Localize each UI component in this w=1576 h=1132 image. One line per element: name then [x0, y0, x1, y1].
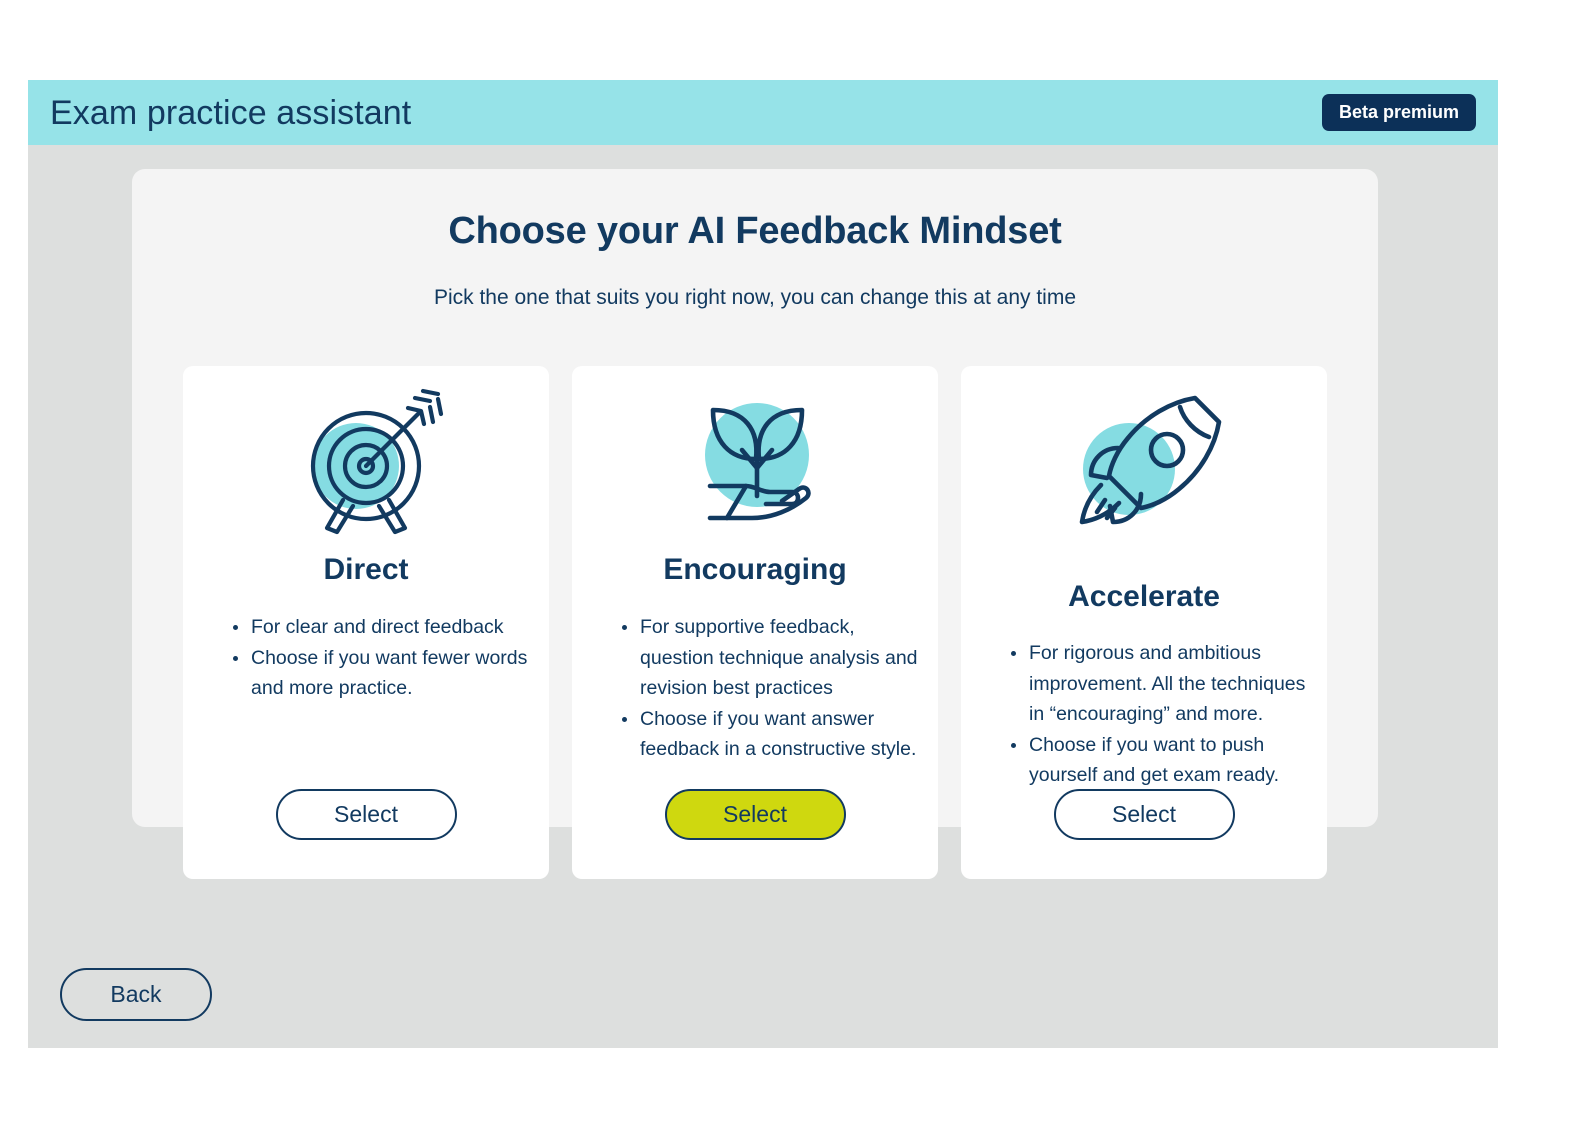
mindset-card-direct[interactable]: Direct For clear and direct feedback Cho…: [183, 366, 549, 879]
mindset-panel: Choose your AI Feedback Mindset Pick the…: [132, 169, 1378, 827]
mindset-card-encouraging[interactable]: Encouraging For supportive feedback, que…: [572, 366, 938, 879]
list-item: For supportive feedback, question techni…: [622, 612, 928, 704]
footer-actions: Back: [60, 968, 212, 1021]
card-action: Select: [183, 789, 549, 840]
rocket-icon: [1049, 382, 1239, 542]
page-title: Choose your AI Feedback Mindset: [132, 169, 1378, 253]
card-bullet-list: For supportive feedback, question techni…: [572, 612, 938, 765]
app-title: Exam practice assistant: [50, 96, 411, 130]
card-title: Accelerate: [1068, 580, 1220, 614]
plant-in-hand-icon: [660, 382, 850, 542]
app-header: Exam practice assistant Beta premium: [28, 80, 1498, 145]
list-item: Choose if you want answer feedback in a …: [622, 704, 928, 765]
list-item: Choose if you want fewer words and more …: [233, 643, 539, 704]
list-item: For rigorous and ambitious improvement. …: [1011, 638, 1317, 730]
app-window: Exam practice assistant Beta premium Cho…: [28, 80, 1498, 1048]
mindset-card-accelerate[interactable]: Accelerate For rigorous and ambitious im…: [961, 366, 1327, 879]
select-button-encouraging[interactable]: Select: [665, 789, 846, 840]
status-badge: Beta premium: [1322, 94, 1476, 131]
select-button-direct[interactable]: Select: [276, 789, 457, 840]
list-item: For clear and direct feedback: [233, 612, 539, 643]
card-bullet-list: For rigorous and ambitious improvement. …: [961, 638, 1327, 791]
list-item: Choose if you want to push yourself and …: [1011, 730, 1317, 791]
mindset-card-list: Direct For clear and direct feedback Cho…: [183, 366, 1327, 879]
card-action: Select: [961, 789, 1327, 840]
back-button[interactable]: Back: [60, 968, 212, 1021]
card-title: Direct: [323, 553, 408, 587]
card-bullet-list: For clear and direct feedback Choose if …: [183, 612, 549, 704]
page-subtitle: Pick the one that suits you right now, y…: [132, 253, 1378, 310]
card-action: Select: [572, 789, 938, 840]
select-button-accelerate[interactable]: Select: [1054, 789, 1235, 840]
card-title: Encouraging: [663, 553, 846, 587]
target-arrow-icon: [271, 382, 461, 542]
